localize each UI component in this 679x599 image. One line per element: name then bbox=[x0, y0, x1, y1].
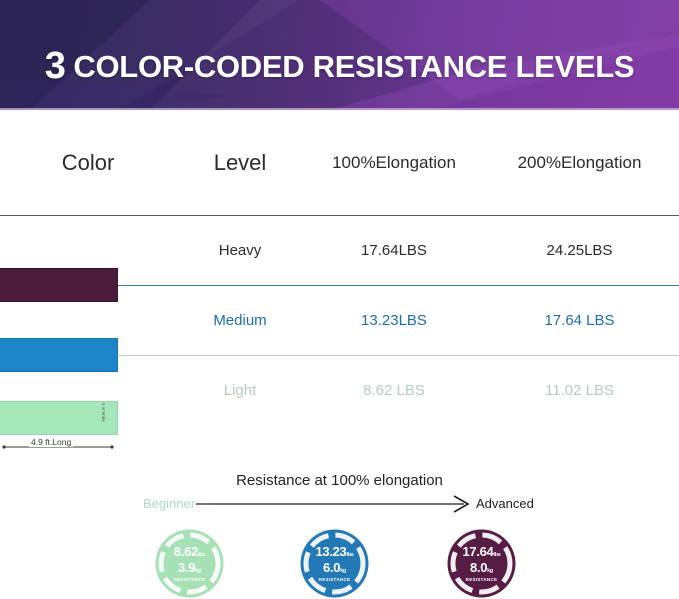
dial-lbs-value: 17.64 bbox=[462, 544, 493, 559]
dial-heavy: 17.64lbs 8.0kg RESISTANCE bbox=[446, 528, 517, 599]
banner-title-group: 3 COLOR-CODED RESISTANCE LEVELS bbox=[0, 0, 679, 110]
dial-lbs-row: 13.23lbs bbox=[315, 545, 353, 559]
header-label-elongation-200: 200%Elongation bbox=[518, 153, 642, 172]
elongation-200-cell-light: 11.02 LBS bbox=[480, 382, 679, 400]
dial-kg-value: 8.0 bbox=[470, 560, 487, 575]
dial-text-medium: 13.23lbs 6.0kg RESISTANCE bbox=[299, 528, 370, 599]
elongation-100-cell-light: 8.62 LBS bbox=[308, 382, 480, 400]
resistance-scale-section: Resistance at 100% elongation Beginner A… bbox=[0, 455, 679, 599]
dial-kg-unit: kg bbox=[195, 568, 201, 574]
color-swatch-heavy bbox=[0, 268, 118, 302]
level-value: Heavy bbox=[219, 242, 262, 259]
level-value: Light bbox=[224, 382, 257, 399]
header-banner: 3 COLOR-CODED RESISTANCE LEVELS bbox=[0, 0, 679, 110]
header-label-color: Color bbox=[0, 150, 172, 176]
resistance-table: Color Level 100%Elongation 200%Elongatio… bbox=[0, 110, 679, 425]
color-swatch-medium bbox=[0, 338, 118, 372]
dial-caption: RESISTANCE bbox=[174, 578, 206, 583]
level-cell-heavy: Heavy bbox=[172, 242, 308, 260]
elongation-200-cell-heavy: 24.25LBS bbox=[480, 242, 679, 260]
banner-number: 3 bbox=[45, 47, 66, 85]
header-cell-elongation-100: 100%Elongation bbox=[308, 153, 480, 173]
dial-kg-value: 3.9 bbox=[178, 560, 195, 575]
level-value: Medium bbox=[213, 312, 266, 329]
dial-lbs-row: 8.62lbs bbox=[174, 545, 205, 559]
header-label-elongation-100: 100%Elongation bbox=[332, 153, 456, 172]
dial-lbs-unit: lbs bbox=[494, 552, 501, 558]
dial-kg-row: 3.9kg bbox=[178, 561, 201, 575]
elongation-100-cell-medium: 13.23LBS bbox=[308, 312, 480, 330]
elongation-200-value: 17.64 LBS bbox=[544, 312, 614, 329]
level-cell-medium: Medium bbox=[172, 312, 308, 330]
scale-caption: Resistance at 100% elongation bbox=[0, 472, 679, 489]
dial-text-light: 8.62lbs 3.9kg RESISTANCE bbox=[154, 528, 225, 599]
banner-title-text: COLOR-CODED RESISTANCE LEVELS bbox=[73, 51, 634, 82]
dial-lbs-unit: lbs bbox=[347, 552, 354, 558]
scale-label-advanced: Advanced bbox=[476, 496, 534, 511]
dial-lbs-value: 8.62 bbox=[174, 544, 198, 559]
dial-medium: 13.23lbs 6.0kg RESISTANCE bbox=[299, 528, 370, 599]
dial-light: 8.62lbs 3.9kg RESISTANCE bbox=[154, 528, 225, 599]
header-cell-color: Color bbox=[0, 150, 172, 176]
dial-kg-row: 8.0kg bbox=[470, 561, 493, 575]
infographic-page: 3 COLOR-CODED RESISTANCE LEVELS Color Le… bbox=[0, 0, 679, 599]
dimension-length-label: 4.9 ft.Long bbox=[29, 437, 73, 447]
dimension-width-label: 6 in.Wide bbox=[101, 403, 106, 422]
dial-group: 8.62lbs 3.9kg RESISTANCE 13.23lbs 6.0kg … bbox=[0, 528, 679, 599]
level-cell-light: Light bbox=[172, 382, 308, 400]
dial-text-heavy: 17.64lbs 8.0kg RESISTANCE bbox=[446, 528, 517, 599]
scale-label-beginner: Beginner bbox=[143, 496, 195, 511]
dial-lbs-value: 13.23 bbox=[315, 544, 346, 559]
header-cell-level: Level bbox=[172, 150, 308, 176]
elongation-100-cell-heavy: 17.64LBS bbox=[308, 242, 480, 260]
dial-kg-unit: kg bbox=[487, 568, 493, 574]
scale-arrow-icon bbox=[196, 495, 476, 513]
dial-lbs-unit: lbs bbox=[198, 552, 205, 558]
dial-lbs-row: 17.64lbs bbox=[462, 545, 500, 559]
dial-caption: RESISTANCE bbox=[319, 578, 351, 583]
elongation-100-value: 8.62 LBS bbox=[363, 382, 425, 399]
elongation-200-value: 24.25LBS bbox=[547, 242, 613, 259]
dial-kg-row: 6.0kg bbox=[323, 561, 346, 575]
dial-kg-unit: kg bbox=[340, 568, 346, 574]
dial-kg-value: 6.0 bbox=[323, 560, 340, 575]
dial-caption: RESISTANCE bbox=[466, 578, 498, 583]
elongation-100-value: 17.64LBS bbox=[361, 242, 427, 259]
header-cell-elongation-200: 200%Elongation bbox=[480, 153, 679, 173]
table-header-row: Color Level 100%Elongation 200%Elongatio… bbox=[0, 110, 679, 215]
elongation-200-cell-medium: 17.64 LBS bbox=[480, 312, 679, 330]
elongation-200-value: 11.02 LBS bbox=[545, 382, 614, 399]
table-row: Heavy 17.64LBS 24.25LBS bbox=[0, 216, 679, 285]
elongation-100-value: 13.23LBS bbox=[361, 312, 427, 329]
header-label-level: Level bbox=[214, 150, 267, 175]
